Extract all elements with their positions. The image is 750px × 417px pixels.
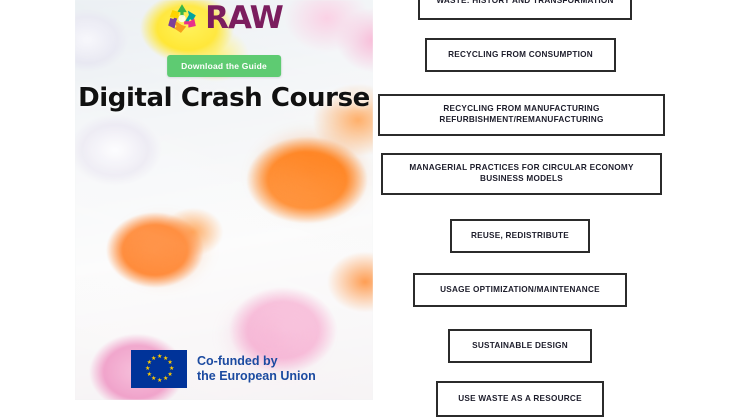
eu-funding-lockup: ★★★★★★★★★★★★ Co-funded by the European U… (131, 350, 316, 388)
eu-flag-star: ★ (147, 361, 151, 365)
european-union-flag: ★★★★★★★★★★★★ (131, 350, 187, 388)
promo-card: RAW Download the Guide Digital Crash Cou… (75, 0, 373, 400)
eu-flag-star: ★ (147, 373, 151, 377)
diagram-node[interactable]: REUSE, REDISTRIBUTE (450, 219, 590, 253)
eu-funding-line-1: Co-funded by (197, 354, 316, 369)
raw-wordmark: RAW (205, 3, 283, 34)
eu-flag-star: ★ (163, 357, 167, 361)
diagram-node-label: WASTE: HISTORY AND TRANSFORMATION (436, 0, 613, 6)
eu-flag-star: ★ (163, 377, 167, 381)
promo-title: Digital Crash Course (75, 83, 373, 113)
diagram-node-label: USE WASTE AS A RESOURCE (458, 394, 582, 405)
circular-economy-flow-diagram: WASTE: HISTORY AND TRANSFORMATIONRECYCLI… (373, 0, 750, 400)
diagram-node[interactable]: WASTE: HISTORY AND TRANSFORMATION (418, 0, 632, 20)
raw-logo[interactable]: RAW (75, 0, 373, 38)
diagram-node-label: RECYCLING FROM CONSUMPTION (448, 50, 593, 61)
diagram-node[interactable]: USE WASTE AS A RESOURCE (436, 381, 604, 417)
eu-flag-star: ★ (169, 367, 173, 371)
eu-flag-star: ★ (167, 361, 171, 365)
eu-flag-star: ★ (157, 379, 161, 383)
eu-funding-text: Co-funded by the European Union (197, 354, 316, 384)
eu-flag-star: ★ (151, 357, 155, 361)
diagram-node[interactable]: SUSTAINABLE DESIGN (448, 329, 592, 363)
diagram-node[interactable]: RECYCLING FROM CONSUMPTION (425, 38, 616, 72)
diagram-node[interactable]: RECYCLING FROM MANUFACTURINGREFURBISHMEN… (378, 94, 665, 136)
eu-funding-line-2: the European Union (197, 369, 316, 384)
diagram-node-label: REUSE, REDISTRIBUTE (471, 231, 569, 242)
screenshot-root: RAW Download the Guide Digital Crash Cou… (0, 0, 750, 400)
diagram-node-label: RECYCLING FROM MANUFACTURINGREFURBISHMEN… (439, 104, 603, 126)
diagram-node-label: USAGE OPTIMIZATION/MAINTENANCE (440, 285, 600, 296)
diagram-node-label: SUSTAINABLE DESIGN (472, 341, 568, 352)
download-the-guide-button[interactable]: Download the Guide (167, 55, 281, 77)
eu-flag-star: ★ (145, 367, 149, 371)
diagram-node[interactable]: USAGE OPTIMIZATION/MAINTENANCE (413, 273, 627, 307)
eu-flag-star: ★ (157, 355, 161, 359)
diagram-node-label: MANAGERIAL PRACTICES FOR CIRCULAR ECONOM… (409, 163, 633, 185)
recycling-arrows-icon (165, 1, 199, 35)
diagram-node[interactable]: MANAGERIAL PRACTICES FOR CIRCULAR ECONOM… (381, 153, 662, 195)
